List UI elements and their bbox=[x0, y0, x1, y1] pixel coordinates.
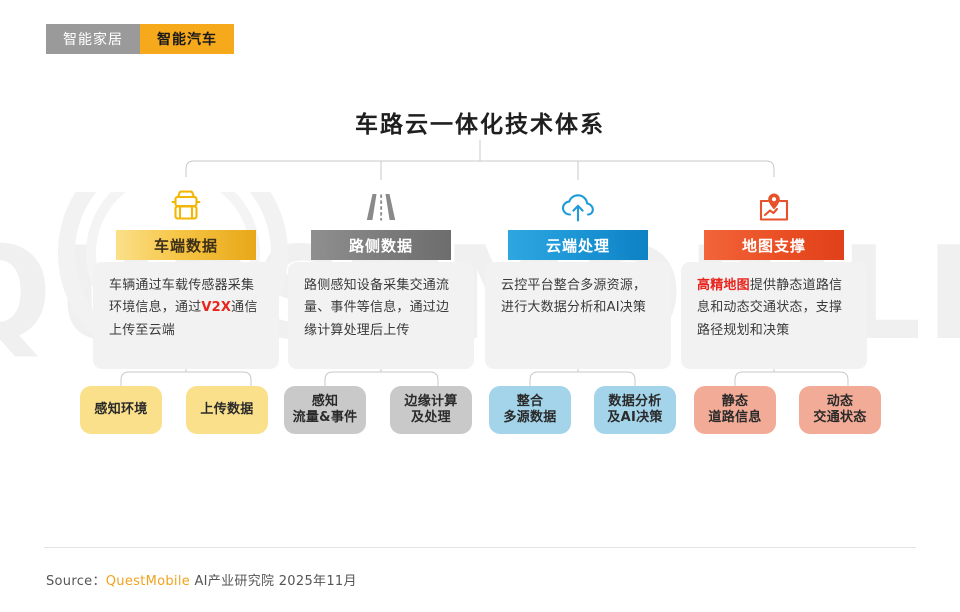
tab-smart-car[interactable]: 智能汽车 bbox=[140, 24, 234, 54]
column-cloud-processing: 云端处理 云控平台整合多源资源，进行大数据分析和AI决策 bbox=[485, 176, 671, 369]
tag-line: 道路信息 bbox=[708, 410, 761, 426]
tag-line: 边缘计算 bbox=[404, 394, 457, 410]
footer-divider bbox=[44, 547, 916, 548]
tag-line: 感知 bbox=[312, 394, 339, 410]
page-title: 车路云一体化技术体系 bbox=[0, 105, 960, 139]
cloud-upload-icon bbox=[561, 176, 595, 222]
tab-smart-home[interactable]: 智能家居 bbox=[46, 24, 140, 54]
column-vehicle-data: 车端数据 车辆通过车载传感器采集环境信息，通过V2X通信上传至云端 bbox=[93, 176, 279, 369]
tag-line: 感知环境 bbox=[94, 402, 147, 418]
column-body-map-support: 高精地图提供静态道路信息和动态交通状态，支撑路径规划和决策 bbox=[681, 262, 867, 369]
column-roadside-data: 路侧数据 路侧感知设备采集交通流量、事件等信息，通过边缘计算处理后上传 bbox=[288, 176, 474, 369]
body-highlight-v2x: V2X bbox=[201, 300, 231, 315]
column-body-vehicle-data: 车辆通过车载传感器采集环境信息，通过V2X通信上传至云端 bbox=[93, 262, 279, 369]
tag-item[interactable]: 动态 交通状态 bbox=[799, 386, 881, 434]
column-label-roadside-data: 路侧数据 bbox=[311, 230, 451, 260]
tag-line: 流量&事件 bbox=[293, 410, 358, 426]
category-tabbar[interactable]: 智能家居 智能汽车 bbox=[46, 24, 234, 54]
tag-item[interactable]: 数据分析 及AI决策 bbox=[594, 386, 676, 434]
column-map-support: 地图支撑 高精地图提供静态道路信息和动态交通状态，支撑路径规划和决策 bbox=[681, 176, 867, 369]
source-rest: AI产业研究院 2025年11月 bbox=[190, 570, 357, 589]
road-icon bbox=[366, 176, 396, 222]
column-body-roadside-data: 路侧感知设备采集交通流量、事件等信息，通过边缘计算处理后上传 bbox=[288, 262, 474, 369]
source-label: Source： bbox=[46, 570, 106, 589]
map-pin-icon bbox=[758, 176, 790, 222]
tag-item[interactable]: 感知环境 bbox=[80, 386, 162, 434]
body-highlight-hd-map: 高精地图 bbox=[697, 278, 750, 293]
tag-item[interactable]: 感知 流量&事件 bbox=[284, 386, 366, 434]
tag-row: 感知环境 上传数据 感知 流量&事件 边缘计算 及处理 整合 多源数据 数据分析… bbox=[0, 386, 960, 446]
brand-name: QuestMobile bbox=[106, 574, 190, 589]
body-text-part-1: 云控平台整合多源资源，进行大数据分析和AI决策 bbox=[501, 278, 646, 315]
column-body-cloud-processing: 云控平台整合多源资源，进行大数据分析和AI决策 bbox=[485, 262, 671, 369]
tag-line: 数据分析 bbox=[608, 394, 661, 410]
tag-line: 交通状态 bbox=[813, 410, 866, 426]
column-label-vehicle-data: 车端数据 bbox=[116, 230, 256, 260]
tag-line: 静态 bbox=[722, 394, 749, 410]
tag-line: 多源数据 bbox=[503, 410, 556, 426]
tag-item[interactable]: 边缘计算 及处理 bbox=[390, 386, 472, 434]
source-footer: Source：QuestMobile AI产业研究院 2025年11月 bbox=[46, 570, 357, 589]
infographic-slide: QUESTMOBILE 智能家居 智能汽车 车路云一体化技术体系 bbox=[0, 0, 960, 612]
column-label-cloud-processing: 云端处理 bbox=[508, 230, 648, 260]
tag-line: 上传数据 bbox=[200, 402, 253, 418]
car-front-icon bbox=[171, 176, 201, 222]
pillar-columns: 车端数据 车辆通过车载传感器采集环境信息，通过V2X通信上传至云端 bbox=[0, 176, 960, 376]
tag-item[interactable]: 整合 多源数据 bbox=[489, 386, 571, 434]
tag-line: 动态 bbox=[827, 394, 854, 410]
column-label-map-support: 地图支撑 bbox=[704, 230, 844, 260]
tag-item[interactable]: 静态 道路信息 bbox=[694, 386, 776, 434]
tag-item[interactable]: 上传数据 bbox=[186, 386, 268, 434]
tag-line: 及处理 bbox=[411, 410, 451, 426]
tag-line: 整合 bbox=[517, 394, 544, 410]
body-text-part-1: 路侧感知设备采集交通流量、事件等信息，通过边缘计算处理后上传 bbox=[304, 278, 449, 338]
tag-line: 及AI决策 bbox=[607, 410, 662, 426]
